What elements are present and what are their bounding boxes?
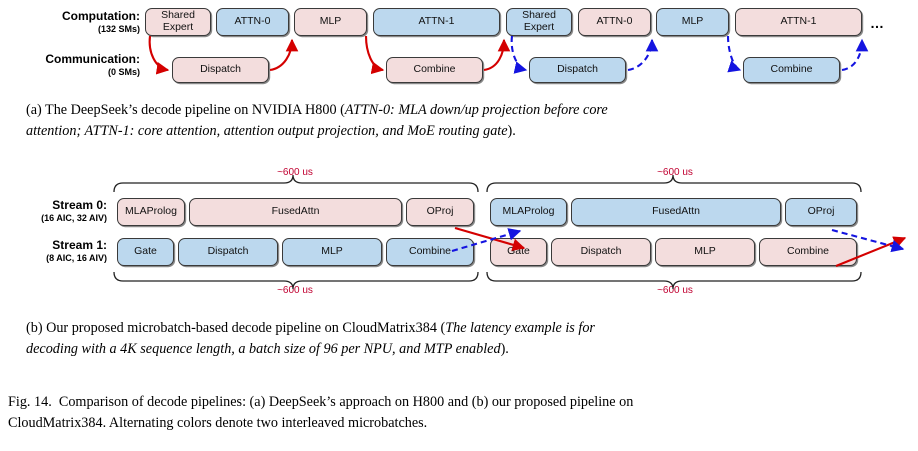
row-title: Communication: [0,53,140,67]
panel-a-caption-italic-1: ATTN-0: MLA down/up projection before co… [345,102,608,118]
figure-number: Fig. 14. [8,394,52,410]
row-subtitle: (16 AIC, 32 AIV) [0,213,107,224]
panel-b-caption-text: (b) Our proposed microbatch-based decode… [26,320,445,336]
panel-b-stream0-block-oproj-2[interactable]: OProj [785,198,857,226]
row-title: Computation: [0,10,140,24]
panel-a-compute-block-attn0-2[interactable]: ATTN-0 [578,8,651,36]
figure-caption-line-2: CloudMatrix384. Alternating colors denot… [8,415,427,431]
panel-b-stream1-block-dispatch-2[interactable]: Dispatch [551,238,651,266]
panel-b-stream1-block-combine-2[interactable]: Combine [759,238,857,266]
panel-a-compute-block-attn1-1[interactable]: ATTN-1 [373,8,500,36]
panel-b-stream0-block-fusedattn-2[interactable]: FusedAttn [571,198,781,226]
row-subtitle: (0 SMs) [0,67,140,78]
panel-b-stream0-block-fusedattn-1[interactable]: FusedAttn [189,198,402,226]
panel-a-caption-tail: ). [508,123,516,139]
panel-b-latency-label-top-left: ~600 us [255,167,335,178]
row-subtitle: (132 SMs) [0,24,140,35]
panel-a-comm-block-combine-1[interactable]: Combine [386,57,483,83]
figure-14: Computation: (132 SMs) Communication: (0… [0,0,918,451]
panel-a-caption: (a) The DeepSeek’s decode pipeline on NV… [26,100,900,141]
panel-b-stream0-block-oproj-1[interactable]: OProj [406,198,474,226]
figure-caption-line-1: Comparison of decode pipelines: (a) Deep… [59,394,633,410]
panel-a-comm-block-dispatch-1[interactable]: Dispatch [172,57,269,83]
panel-b-latency-label-top-right: ~600 us [635,167,715,178]
panel-a-compute-block-shared-expert-1[interactable]: Shared Expert [145,8,211,36]
panel-a-comm-block-combine-2[interactable]: Combine [743,57,840,83]
panel-b-caption-italic-2: decoding with a 4K sequence length, a ba… [26,341,501,357]
panel-b-stream1-block-mlp-1[interactable]: MLP [282,238,382,266]
panel-b-stream1-block-dispatch-1[interactable]: Dispatch [178,238,278,266]
panel-b-stream1-block-gate-2[interactable]: Gate [490,238,547,266]
panel-b-latency-label-bottom-right: ~600 us [635,285,715,296]
panel-a-caption-text: (a) The DeepSeek’s decode pipeline on NV… [26,102,345,118]
panel-a-row-label-computation: Computation: (132 SMs) [0,10,140,35]
panel-b-caption-tail: ). [501,341,509,357]
panel-a-compute-block-mlp-1[interactable]: MLP [294,8,367,36]
panel-a-compute-block-mlp-2[interactable]: MLP [656,8,729,36]
panel-b-stream0-block-mlaprolog-2[interactable]: MLAProlog [490,198,567,226]
row-title: Stream 1: [0,239,107,253]
panel-b-stream1-block-mlp-2[interactable]: MLP [655,238,755,266]
row-subtitle: (8 AIC, 16 AIV) [0,253,107,264]
panel-b-caption: (b) Our proposed microbatch-based decode… [26,318,900,359]
panel-b-caption-italic-1: The latency example is for [445,320,595,336]
panel-a-ellipsis: … [870,15,884,31]
panel-a-row-label-communication: Communication: (0 SMs) [0,53,140,78]
panel-b-stream1-block-combine-1[interactable]: Combine [386,238,474,266]
panel-b-row-label-stream0: Stream 0: (16 AIC, 32 AIV) [0,199,107,224]
panel-b-row-label-stream1: Stream 1: (8 AIC, 16 AIV) [0,239,107,264]
figure-caption: Fig. 14. Comparison of decode pipelines:… [8,392,910,433]
row-title: Stream 0: [0,199,107,213]
panel-b-stream1-block-gate-1[interactable]: Gate [117,238,174,266]
panel-a-compute-block-attn1-2[interactable]: ATTN-1 [735,8,862,36]
panel-a-compute-block-attn0-1[interactable]: ATTN-0 [216,8,289,36]
panel-a-caption-italic-2: attention; ATTN-1: core attention, atten… [26,123,508,139]
panel-b-stream0-block-mlaprolog-1[interactable]: MLAProlog [117,198,185,226]
panel-b-latency-label-bottom-left: ~600 us [255,285,335,296]
panel-a-compute-block-shared-expert-2[interactable]: Shared Expert [506,8,572,36]
panel-b-braces [114,175,861,289]
panel-a-comm-block-dispatch-2[interactable]: Dispatch [529,57,626,83]
